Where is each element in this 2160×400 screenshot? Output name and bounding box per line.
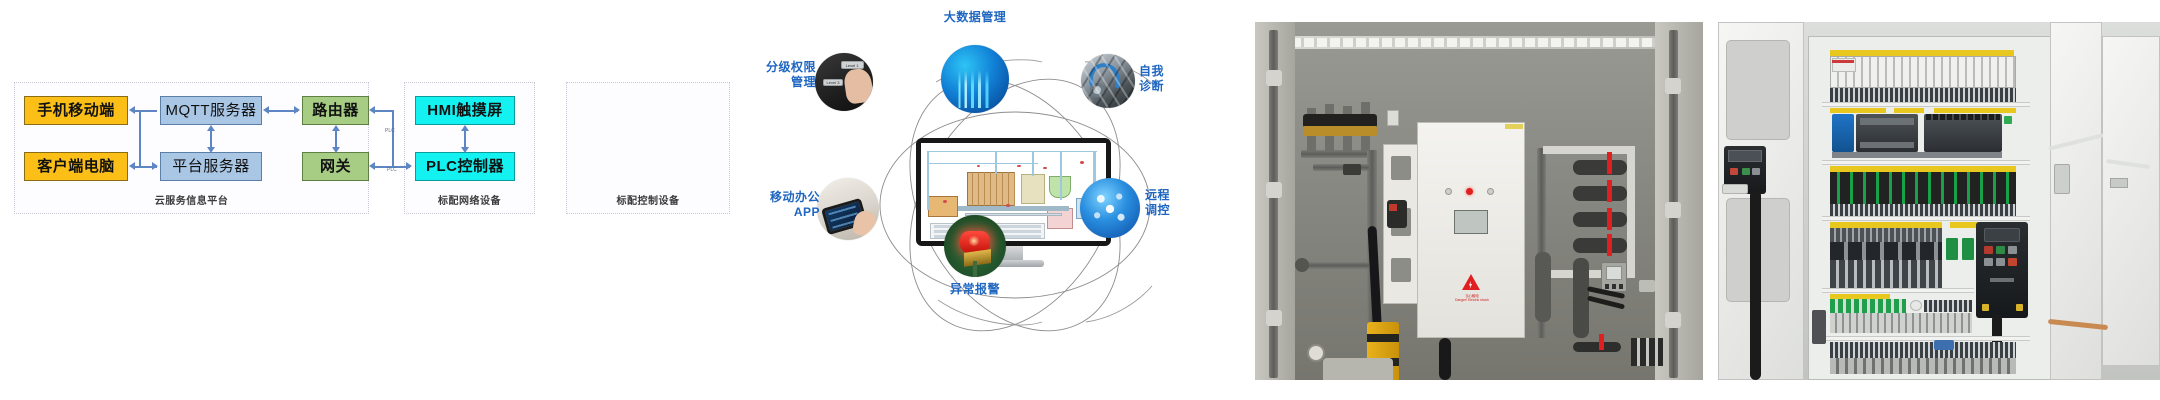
node-mobile-client[interactable]: 手机移动端 <box>24 96 128 125</box>
group-label-cloud-platform: 云服务信息平台 <box>15 192 368 207</box>
arrow-right-to-plc <box>406 162 412 170</box>
ground-terminal-bar <box>1830 299 1906 313</box>
bottom-wire-duct <box>1830 358 2016 374</box>
door-clip-r2 <box>1665 202 1681 218</box>
door-vfd-display <box>1728 150 1762 162</box>
stethoscope-icon[interactable] <box>1081 54 1135 108</box>
arrow-up-router <box>332 125 340 131</box>
hub-label-remote: 远程 调控 <box>1145 188 1193 218</box>
vfd-led-left <box>1982 304 1989 311</box>
cabinet-far-right-panel <box>2102 36 2160 366</box>
shelf-divider-5 <box>1822 336 2030 341</box>
control-cabinet-photo-right <box>1718 22 2160 380</box>
remote-control-icon[interactable] <box>1080 178 1140 238</box>
bottom-black-pipe <box>1573 342 1621 352</box>
equipment-cabinet-photo-left: 当心触电 Danger! Electric shock <box>1255 22 1703 380</box>
warning-text-en: Danger! Electric shock <box>1441 298 1503 302</box>
connector-riser-to-router <box>374 110 394 112</box>
junction-box-small <box>1387 110 1399 126</box>
shelf-divider-1 <box>1822 102 2030 107</box>
door-vfd-key-red <box>1730 168 1738 175</box>
vfd-key-down[interactable] <box>1996 258 2005 266</box>
shelf-divider-2 <box>1822 160 2030 165</box>
mounting-plate-cutout-1 <box>1391 156 1411 180</box>
tablet-app-icon[interactable] <box>817 178 879 240</box>
arrow-down-plc <box>461 147 469 153</box>
transmitter-key-1 <box>1605 284 1609 289</box>
arrow-left-to-gateway <box>369 162 375 170</box>
vfd-key-run[interactable] <box>1996 246 2005 254</box>
arrow-down-gateway <box>332 147 340 153</box>
mounting-plate-cutout-3 <box>1391 258 1411 282</box>
red-valve-handle-4 <box>1607 234 1612 256</box>
arrow-left-to-mqtt <box>263 106 269 114</box>
floor-equipment <box>1323 358 1393 380</box>
vfd-key-set[interactable] <box>2008 246 2017 254</box>
main-power-cable <box>1439 338 1451 380</box>
overload-relay-1 <box>1946 238 1958 260</box>
arrow-to-client-pc <box>129 162 135 170</box>
door-cable-clamp <box>1722 184 1748 194</box>
breaker-label-stripe <box>1832 60 1854 63</box>
right-door-terminal <box>2110 178 2128 188</box>
red-valve-handle-1 <box>1607 152 1612 174</box>
vfd-key-up[interactable] <box>1984 258 1993 266</box>
node-mqtt-server[interactable]: MQTT服务器 <box>160 96 262 125</box>
node-plc-controller[interactable]: PLC控制器 <box>415 152 515 181</box>
ground-wiring <box>1830 313 1972 333</box>
filter-pipe-1 <box>1573 160 1627 175</box>
plc-cpu-top-band <box>1860 118 1914 125</box>
permission-chip-3: Level 3 <box>823 79 843 87</box>
arrow-up-mqtt <box>207 125 215 131</box>
door-cutout-upper <box>1726 40 1790 140</box>
connector-plc-riser <box>392 110 394 167</box>
edge-label-plc-lower: PLC <box>387 167 397 173</box>
filter-pipe-3 <box>1573 212 1627 227</box>
arrow-from-platform-server <box>152 162 158 170</box>
door-clip-r1 <box>1665 78 1681 94</box>
door-cable-bundle <box>1750 190 1761 380</box>
plc-power-supply[interactable] <box>1832 114 1854 152</box>
group-label-network-devices: 标配网络设备 <box>405 192 534 207</box>
cabinet-left-latch <box>1812 310 1826 344</box>
contactor-terminals <box>1830 260 1942 288</box>
permission-levels-icon[interactable]: Level 1 Level 3 Level <box>815 53 873 111</box>
bigdata-icon[interactable] <box>941 45 1009 113</box>
hub-label-bigdata: 大数据管理 <box>925 10 1025 25</box>
plc-wiring-duct <box>1832 152 2002 158</box>
alarm-base-icon <box>964 249 991 266</box>
transmitter-key-3 <box>1619 284 1623 289</box>
arrow-down-platform <box>207 147 215 153</box>
node-client-pc[interactable]: 客户端电脑 <box>24 152 128 181</box>
monitor-bezel <box>916 138 1111 246</box>
arrow-left-to-router <box>369 106 375 114</box>
door-clip-l3 <box>1266 310 1282 326</box>
door-hinge-latch <box>2054 164 2070 194</box>
stethoscope-bell-icon <box>1090 83 1104 97</box>
pipe-elbow <box>1295 258 1309 272</box>
node-hmi-touch-panel[interactable]: HMI触摸屏 <box>415 96 515 125</box>
group-label-control-devices: 标配控制设备 <box>567 192 729 207</box>
bollard-stripe-1 <box>1367 334 1399 342</box>
scada-monitor[interactable] <box>916 138 1111 246</box>
plc-cpu-bottom-band <box>1860 142 1914 148</box>
contactor-wire-top <box>1830 228 1942 242</box>
inline-sensor <box>1343 164 1361 175</box>
filter-pipe-2 <box>1573 186 1627 201</box>
door-vfd-key-green <box>1742 168 1750 175</box>
lower-pipe-left <box>1535 252 1551 322</box>
indicator-led-left <box>1445 188 1452 195</box>
edge-label-plc-upper: PLC <box>385 128 395 134</box>
bottom-terminal-block <box>1631 338 1663 366</box>
door-vfd-key-grey <box>1752 168 1760 175</box>
connector-platform-to-clients <box>139 110 141 167</box>
door-clip-l1 <box>1266 70 1282 86</box>
overload-relay-2 <box>1962 238 1974 260</box>
system-architecture-block-diagram: 云服务信息平台 标配网络设备 标配控制设备 手机移动端 MQTT服务器 路由器 … <box>0 0 770 400</box>
contactor-row <box>1830 242 1942 260</box>
red-valve-handle-3 <box>1607 208 1612 230</box>
hub-label-permission: 分级权限 管理 <box>754 60 816 90</box>
transmitter-display <box>1606 266 1622 280</box>
hub-label-diagnosis: 自我 诊断 <box>1139 64 1187 94</box>
plc-io-terminals <box>1926 114 2000 120</box>
right-frame-top <box>1543 146 1633 154</box>
right-frame-side <box>1627 146 1635 278</box>
din-rail-yellow-2c <box>1934 108 2016 113</box>
vfd-led-right <box>2016 304 2023 311</box>
valve-brass-fittings <box>1303 126 1377 136</box>
arrow-up-hmi <box>461 125 469 131</box>
screenshot-root: 云服务信息平台 标配网络设备 标配控制设备 手机移动端 MQTT服务器 路由器 … <box>0 0 2160 400</box>
terminal-row-2 <box>1830 204 2016 216</box>
monitor-screen <box>921 143 1106 241</box>
arrow-right-to-router <box>294 106 300 114</box>
hand-pointing-icon <box>843 68 873 105</box>
terminal-row-3 <box>1924 300 1972 312</box>
enclosure-hmi-display[interactable] <box>1454 210 1488 234</box>
arrow-to-mobile-client <box>129 106 135 114</box>
ground-bar-end-cap <box>1910 300 1922 311</box>
connector-riser-to-mobile <box>135 110 157 112</box>
hub-label-app: 移动办公 APP <box>762 190 820 220</box>
terminal-row-bottom <box>1830 342 2016 358</box>
electric-shock-warning-icon <box>1462 274 1480 290</box>
plc-status-led <box>2004 116 2012 124</box>
shelf-divider-3 <box>1822 216 2030 221</box>
pressure-gauge <box>1307 344 1325 362</box>
vfd-brand-mark <box>1990 278 2014 282</box>
transmitter-key-2 <box>1612 284 1616 289</box>
vfd-key-reset[interactable] <box>2008 258 2017 266</box>
group-control-devices: 标配控制设备 <box>566 82 730 214</box>
node-platform-server[interactable]: 平台服务器 <box>160 152 262 181</box>
branch-pipe-lower <box>1299 262 1369 269</box>
alarm-beacon-icon[interactable] <box>944 215 1006 277</box>
indicator-led-alarm <box>1466 188 1473 195</box>
red-valve-handle-2 <box>1607 180 1612 202</box>
enclosure-yellow-label <box>1505 124 1523 129</box>
door-clip-l2 <box>1266 182 1282 198</box>
relay-row <box>1830 172 2016 204</box>
light-strip-texture <box>1291 38 1667 47</box>
indicator-led-right <box>1487 188 1494 195</box>
node-router[interactable]: 路由器 <box>302 96 369 125</box>
vfd-display <box>1984 228 2020 242</box>
filter-pipe-4 <box>1573 238 1627 253</box>
din-rail-yellow-2a <box>1830 108 1886 113</box>
vfd-key-stop[interactable] <box>1984 246 1993 254</box>
door-clip-r3 <box>1665 312 1681 328</box>
wall-bracket <box>1639 280 1655 292</box>
alarm-pole-icon <box>973 261 977 277</box>
breaker-row-1 <box>1830 56 2016 88</box>
stethoscope-tube-icon <box>1085 59 1123 99</box>
bottom-blue-module <box>1934 340 1954 350</box>
terminal-row-1 <box>1830 88 2016 102</box>
node-gateway[interactable]: 网关 <box>302 152 369 181</box>
scada-process-diagram <box>921 143 1106 241</box>
hub-label-alarm: 异常报警 <box>925 282 1025 297</box>
actuator-indicator <box>1389 204 1397 211</box>
shelf-divider-4 <box>1822 288 1974 293</box>
din-rail-yellow-2b <box>1894 108 1924 113</box>
red-valve-handle-bottom <box>1599 334 1604 350</box>
capability-hub-diagram: 大数据管理 自我 诊断 远程 调控 异常报警 移动办公 APP Level 1 … <box>770 0 1260 400</box>
